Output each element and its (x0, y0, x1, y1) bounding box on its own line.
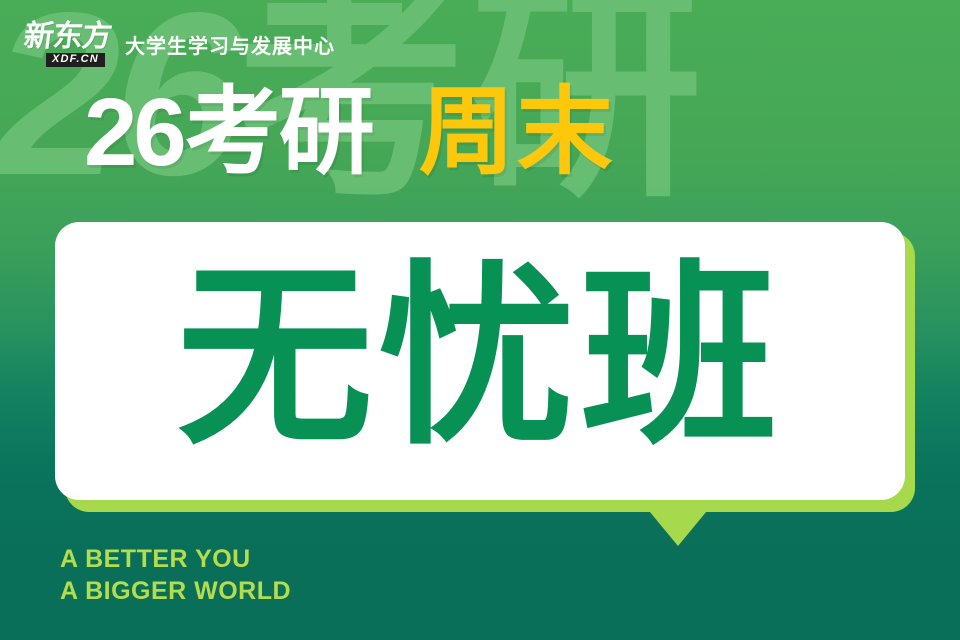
promo-poster: 26考研 新东方 XDF.CN 大学生学习与发展中心 26考研 周末 无忧班 A… (0, 0, 960, 640)
logo-brand-cn: 新东方 (22, 22, 113, 52)
slogan-line-1: A BETTER YOU (60, 543, 291, 575)
poster-header: 新东方 XDF.CN 大学生学习与发展中心 (24, 22, 335, 67)
headline-primary: 26考研 (84, 84, 373, 181)
xdf-logo: 新东方 XDF.CN (24, 22, 111, 67)
brand-slogan: A BETTER YOU A BIGGER WORLD (60, 543, 291, 607)
slogan-line-2: A BIGGER WORLD (60, 575, 291, 607)
headline-row: 26考研 周末 (84, 84, 615, 181)
headline-exam-label: 考研 (185, 76, 373, 188)
course-card-wrapper: 无忧班 (55, 222, 905, 512)
card-bubble-tail (640, 500, 716, 546)
header-tagline: 大学生学习与发展中心 (125, 30, 335, 59)
course-card: 无忧班 (55, 222, 905, 500)
course-name: 无忧班 (55, 222, 905, 500)
logo-brand-domain: XDF.CN (46, 53, 105, 67)
headline-accent-label: 周末 (419, 84, 615, 180)
headline-year-number: 26 (84, 79, 183, 186)
